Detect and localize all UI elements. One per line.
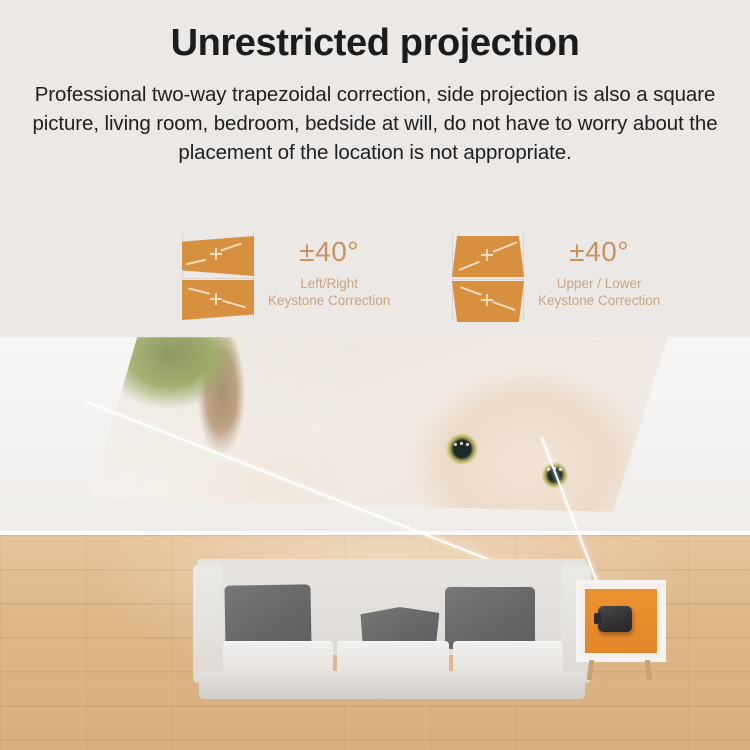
badge-left-right-keystone: ±40° Left/Right Keystone Correction — [182, 232, 390, 332]
badge-upper-lower-text: ±40° Upper / Lower Keystone Correction — [538, 232, 660, 310]
badge-caption: Left/Right Keystone Correction — [268, 275, 390, 310]
cushion-pillow — [445, 587, 535, 649]
room-scene-photo — [0, 337, 750, 750]
sofa-base — [199, 671, 585, 699]
badge-angle-value: ±40° — [268, 238, 390, 266]
badge-caption-line2: Keystone Correction — [538, 292, 660, 309]
badge-left-right-text: ±40° Left/Right Keystone Correction — [268, 232, 390, 310]
badge-caption-line1: Upper / Lower — [538, 275, 660, 292]
cushion-pillow — [224, 584, 311, 649]
upper-lower-keystone-icon — [452, 233, 524, 321]
page-title: Unrestricted projection — [0, 24, 750, 64]
badge-angle-value: ±40° — [538, 238, 660, 266]
badge-caption-line1: Left/Right — [268, 275, 390, 292]
promo-page: Unrestricted projection Professional two… — [0, 0, 750, 750]
keystone-badges: ±40° Left/Right Keystone Correction — [0, 232, 750, 332]
orange-side-table — [576, 580, 666, 662]
sofa — [197, 559, 587, 699]
badge-caption: Upper / Lower Keystone Correction — [538, 275, 660, 310]
projection-glare — [88, 337, 668, 512]
badge-upper-lower-keystone: ±40° Upper / Lower Keystone Correction — [452, 232, 660, 332]
mini-projector — [598, 606, 632, 632]
badge-caption-line2: Keystone Correction — [268, 292, 390, 309]
projected-image — [88, 337, 668, 512]
page-description: Professional two-way trapezoidal correct… — [28, 80, 722, 167]
sofa-arm-left — [193, 565, 223, 683]
left-right-keystone-icon — [182, 233, 254, 321]
